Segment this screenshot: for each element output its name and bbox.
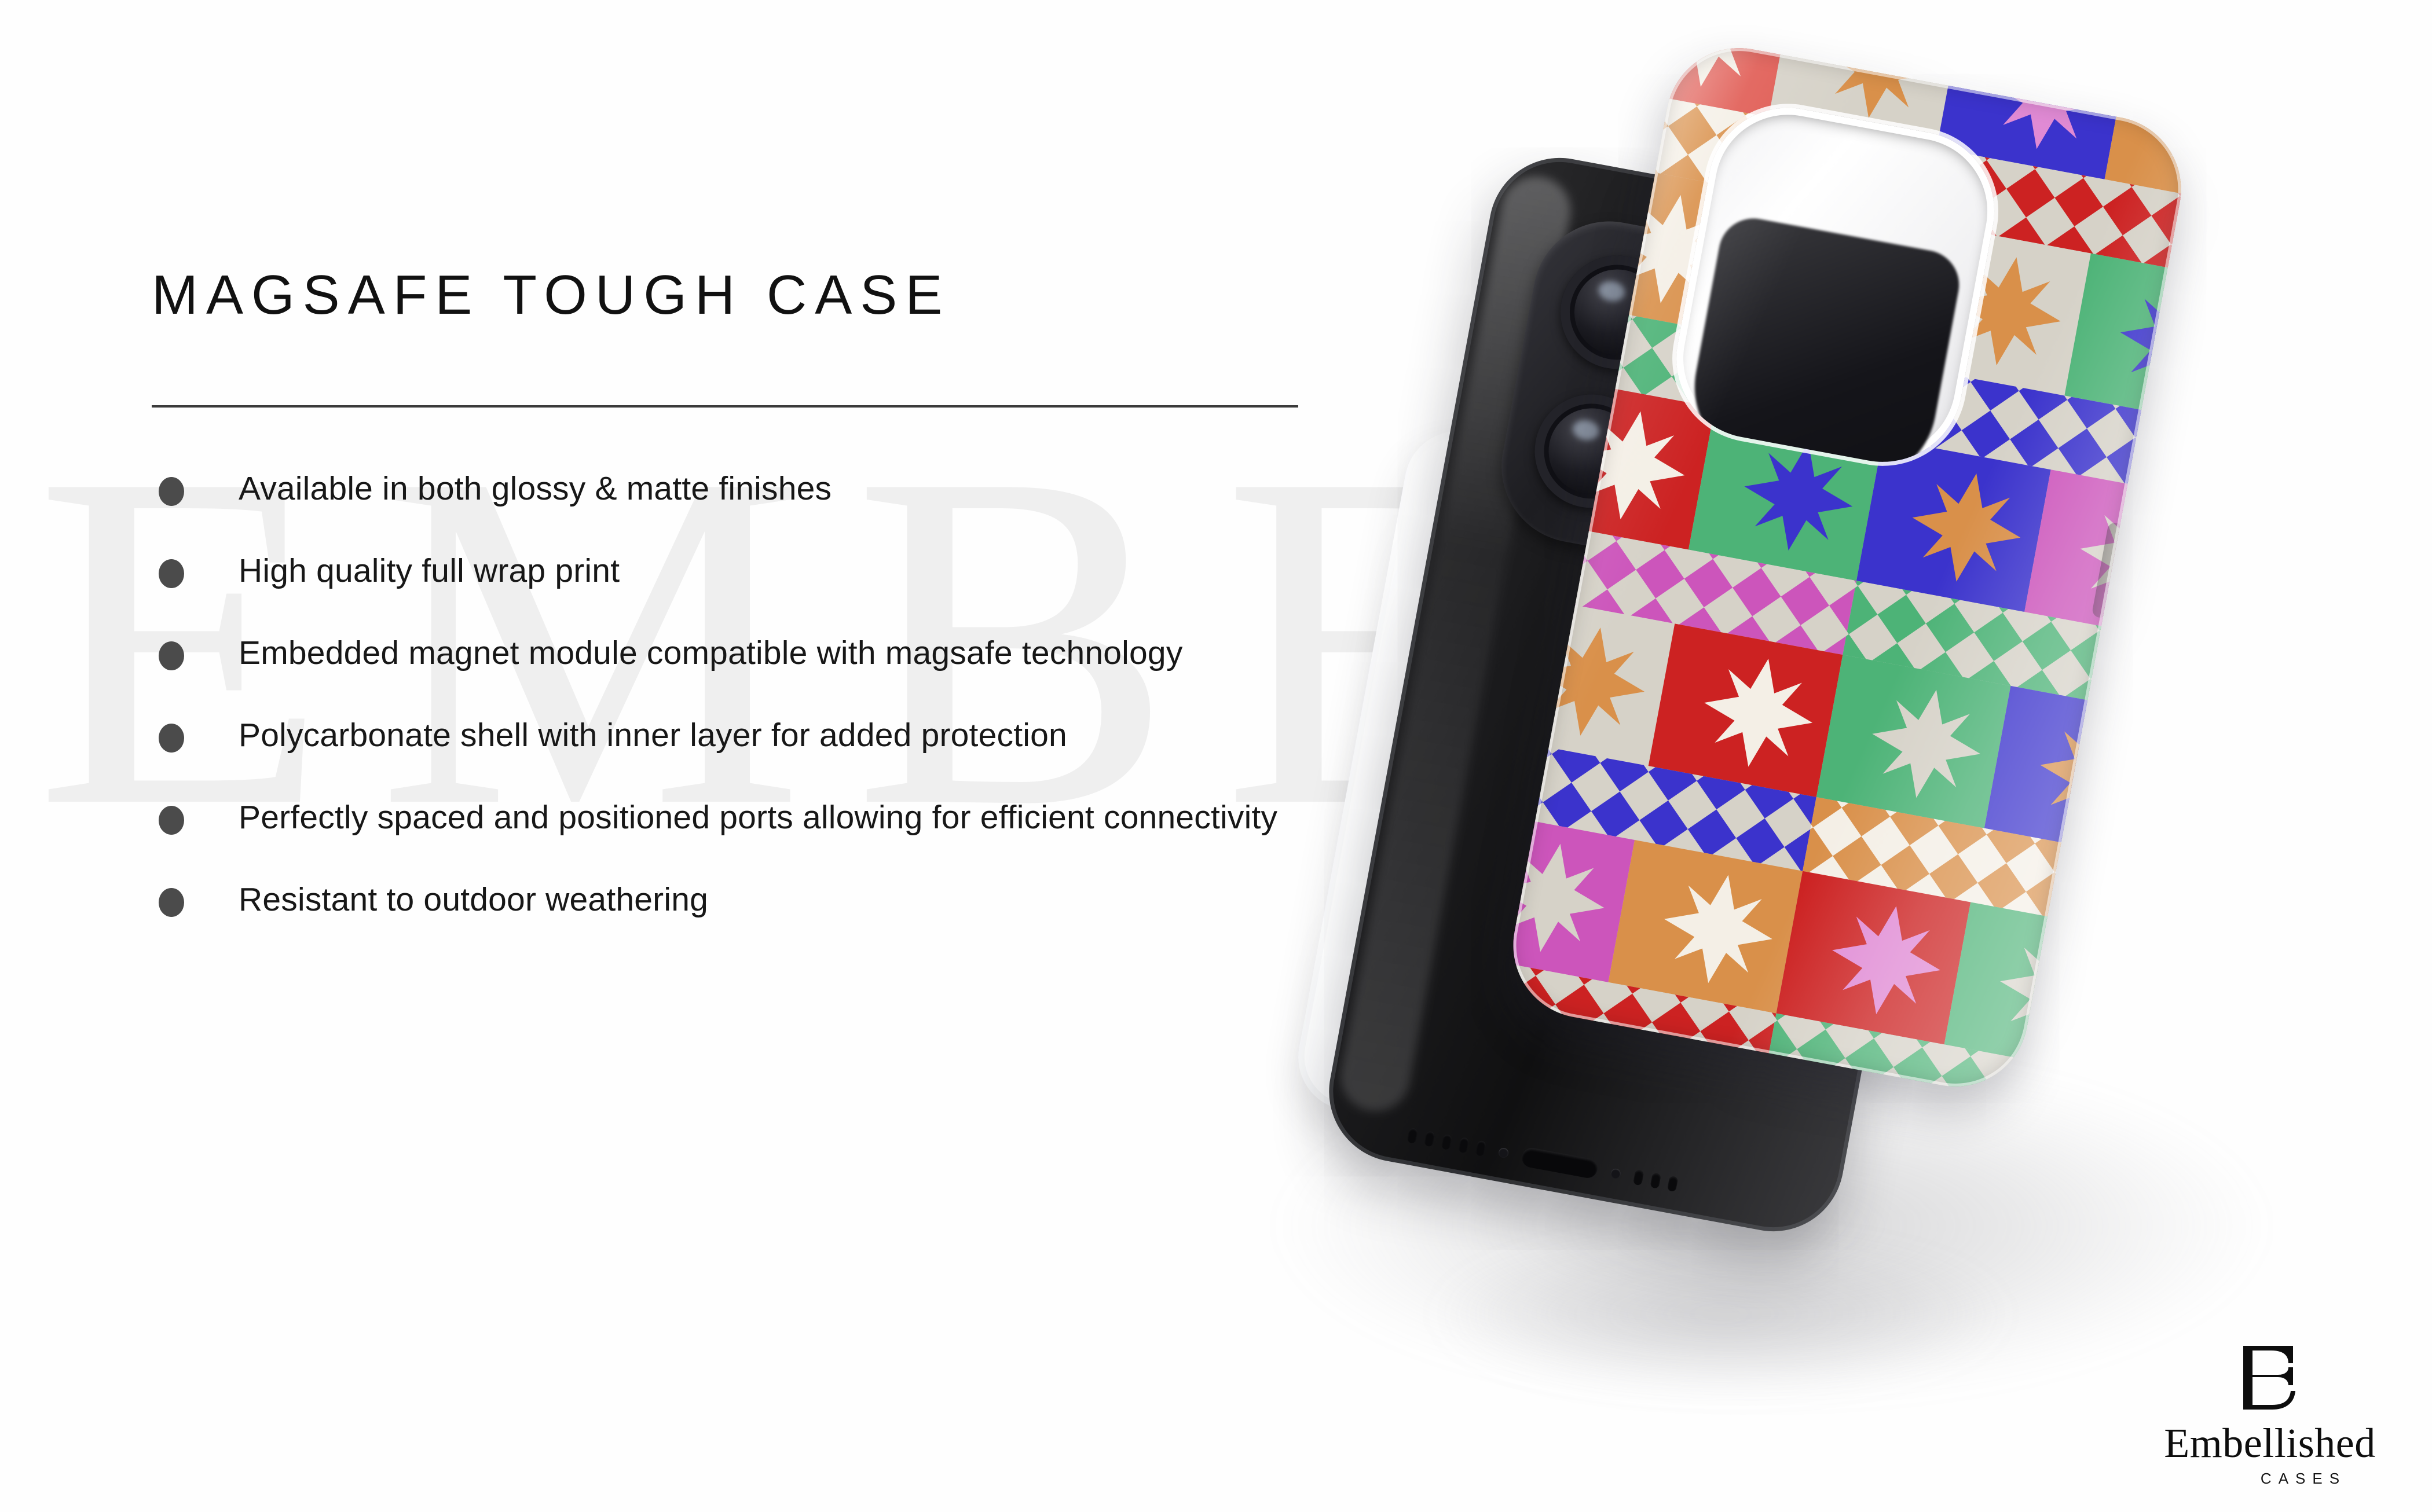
list-item: Resistant to outdoor weathering xyxy=(152,880,1345,930)
logo-wordmark: Embellished xyxy=(2142,1422,2397,1464)
screw-icon xyxy=(1610,1168,1621,1179)
bullet-icon xyxy=(159,559,184,588)
bullet-icon xyxy=(159,477,184,506)
logo-subtitle: CASES xyxy=(2210,1470,2397,1488)
list-item: Available in both glossy & matte finishe… xyxy=(152,469,1345,519)
screw-icon xyxy=(1498,1147,1510,1158)
list-item: High quality full wrap print xyxy=(152,551,1345,601)
bullet-icon xyxy=(159,806,184,835)
feature-text: Resistant to outdoor weathering xyxy=(239,880,1321,920)
feature-text: High quality full wrap print xyxy=(239,551,1321,592)
page-title: MAGSAFE TOUGH CASE xyxy=(152,263,950,327)
feature-text: Polycarbonate shell with inner layer for… xyxy=(239,715,1321,756)
poster-stage: EMBE MAGSAFE TOUGH CASE Available in bot… xyxy=(0,0,2432,1512)
list-item: Perfectly spaced and positioned ports al… xyxy=(152,798,1345,847)
bullet-icon xyxy=(159,641,184,670)
bullet-icon xyxy=(159,724,184,753)
monogram-e-icon xyxy=(2235,1340,2305,1415)
feature-text: Available in both glossy & matte finishe… xyxy=(239,469,1321,509)
bullet-icon xyxy=(159,888,184,917)
product-mockup xyxy=(1262,52,2334,1355)
speaker-grille-icon xyxy=(1633,1169,1678,1192)
list-item: Polycarbonate shell with inner layer for… xyxy=(152,715,1345,765)
feature-text: Embedded magnet module compatible with m… xyxy=(239,633,1321,674)
list-item: Embedded magnet module compatible with m… xyxy=(152,633,1345,683)
feature-text: Perfectly spaced and positioned ports al… xyxy=(239,798,1321,838)
feature-list: Available in both glossy & matte finishe… xyxy=(152,469,1345,962)
brand-logo: Embellished CASES xyxy=(2142,1340,2397,1488)
title-divider xyxy=(152,405,1298,408)
text-column: MAGSAFE TOUGH CASE Available in both glo… xyxy=(0,0,1390,1512)
